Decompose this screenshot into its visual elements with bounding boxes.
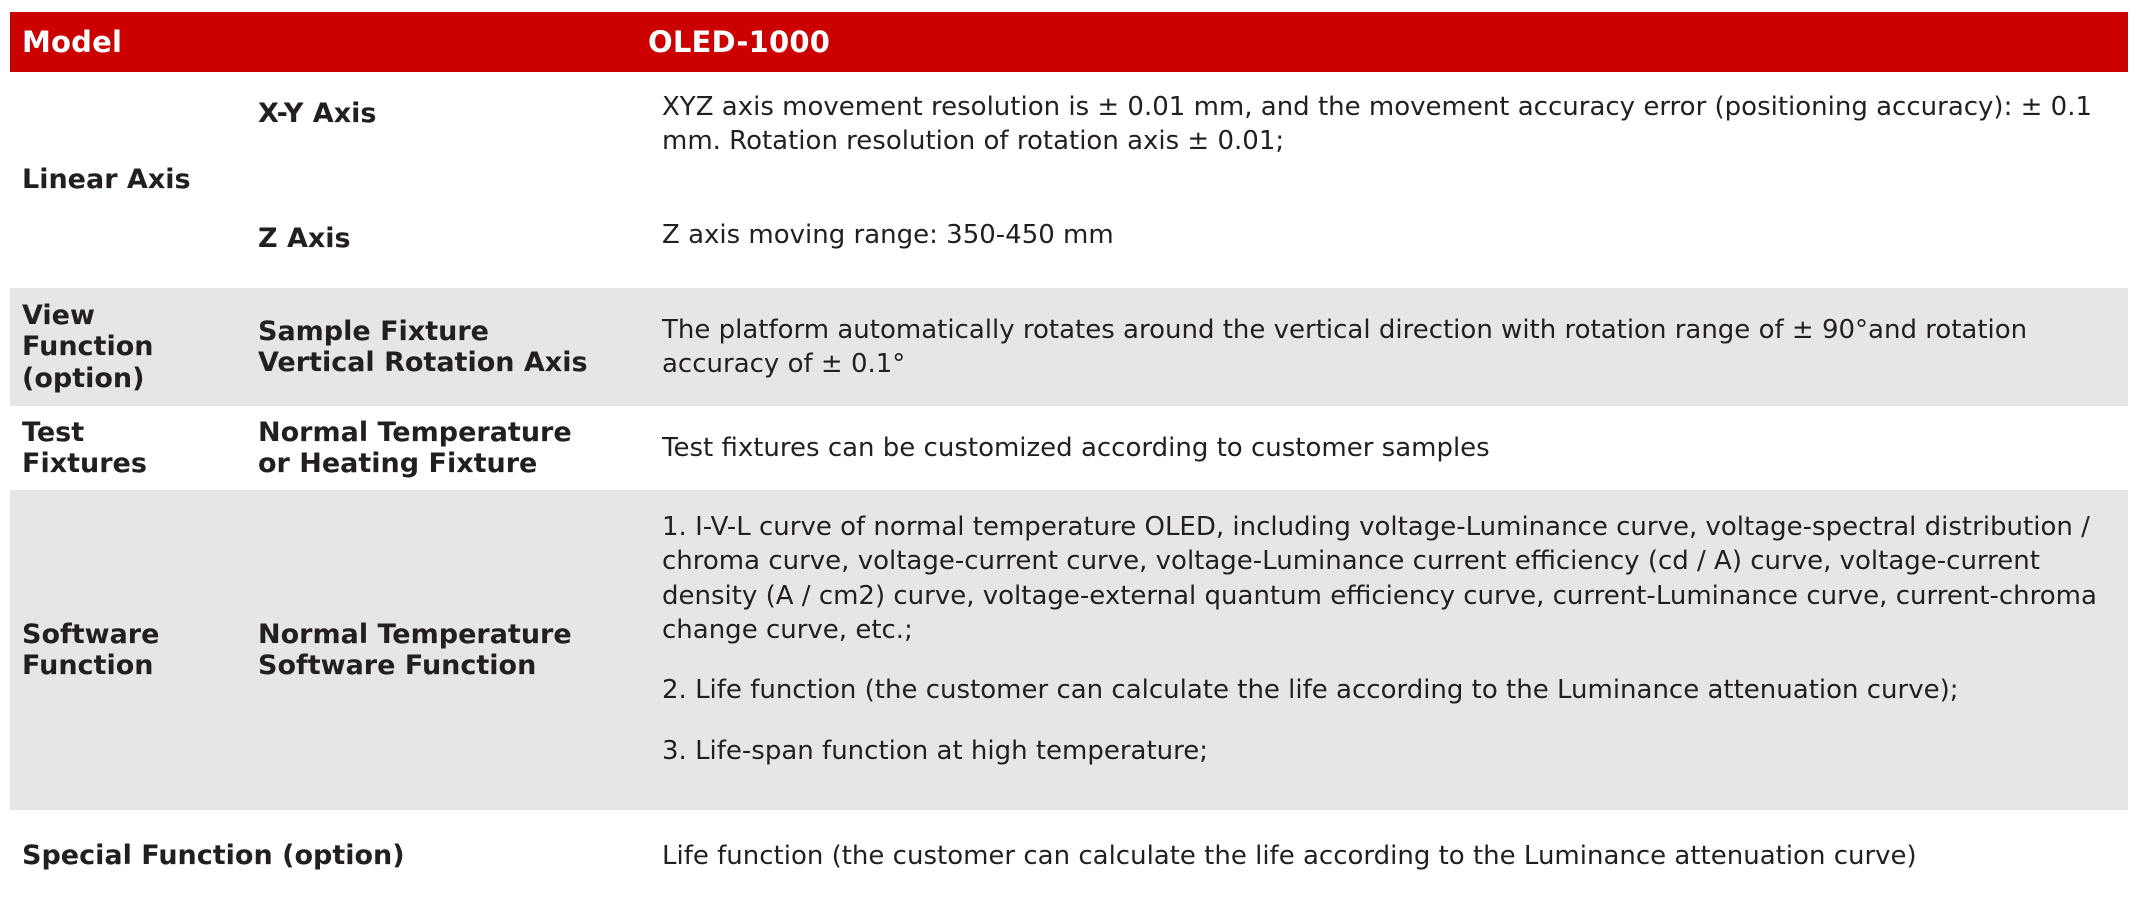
row-description: Life function (the customer can calculat…	[650, 810, 2128, 902]
group-label-line1: View	[22, 300, 248, 331]
group-label: Special Function (option)	[22, 840, 650, 871]
row-description: The platform automatically rotates aroun…	[650, 288, 2128, 406]
table-row: Software Function Normal Temperature Sof…	[10, 490, 2128, 810]
group-label-line2: Function	[22, 650, 248, 681]
sub-label-line2: Vertical Rotation Axis	[258, 347, 650, 378]
sub-label-line1: Sample Fixture	[258, 316, 650, 347]
group-label-line1: Test	[22, 417, 248, 448]
row-group-view-function: View Function (option)	[10, 288, 248, 406]
group-label-line1: Software	[22, 619, 248, 650]
header-model-label: Model	[10, 25, 648, 59]
description-view-function: The platform automatically rotates aroun…	[662, 313, 2114, 382]
description-test-fixtures: Test fixtures can be customized accordin…	[662, 431, 2114, 465]
sub-label-line1: Normal Temperature	[258, 417, 650, 448]
group-label-line2: Fixtures	[22, 448, 248, 479]
row-group-special-function: Special Function (option)	[10, 810, 650, 902]
row-subcolumn: X-Y Axis Z Axis	[248, 72, 650, 288]
row-description: 1. I-V-L curve of normal temperature OLE…	[650, 490, 2128, 810]
description-special-function: Life function (the customer can calculat…	[662, 839, 2114, 873]
description-x-y-axis: XYZ axis movement resolution is ± 0.01 m…	[662, 90, 2114, 159]
group-label-line2: Function	[22, 331, 248, 362]
table-row: View Function (option) Sample Fixture Ve…	[10, 288, 2128, 406]
sub-label-line1: Normal Temperature	[258, 619, 650, 650]
description-software-item-2: 2. Life function (the customer can calcu…	[662, 673, 2114, 707]
table-row: Special Function (option) Life function …	[10, 810, 2128, 902]
specification-table: Model OLED-1000 Linear Axis X-Y Axis Z A…	[0, 0, 2140, 902]
sub-label-x-y-axis: X-Y Axis	[258, 98, 650, 129]
group-label-line3: (option)	[22, 363, 248, 394]
table-body: Linear Axis X-Y Axis Z Axis XYZ axis mov…	[10, 72, 2128, 902]
sub-label-line2: or Heating Fixture	[258, 448, 650, 479]
table-header-row: Model OLED-1000	[10, 12, 2128, 72]
header-model-value: OLED-1000	[648, 25, 830, 59]
row-group-software-function: Software Function	[10, 490, 248, 810]
description-software-item-3: 3. Life-span function at high temperatur…	[662, 734, 2114, 768]
description-software-item-1: 1. I-V-L curve of normal temperature OLE…	[662, 510, 2114, 647]
row-subcolumn: Normal Temperature Software Function	[248, 490, 650, 810]
table-row: Test Fixtures Normal Temperature or Heat…	[10, 406, 2128, 490]
sub-label-z-axis: Z Axis	[258, 223, 650, 254]
sub-label-line2: Software Function	[258, 650, 650, 681]
description-z-axis: Z axis moving range: 350-450 mm	[662, 218, 2114, 252]
table-row: Linear Axis X-Y Axis Z Axis XYZ axis mov…	[10, 72, 2128, 288]
row-description: Test fixtures can be customized accordin…	[650, 406, 2128, 490]
row-subcolumn: Normal Temperature or Heating Fixture	[248, 406, 650, 490]
row-group-test-fixtures: Test Fixtures	[10, 406, 248, 490]
group-label: Linear Axis	[22, 164, 248, 195]
row-description: XYZ axis movement resolution is ± 0.01 m…	[650, 72, 2128, 288]
row-group-linear-axis: Linear Axis	[10, 72, 248, 288]
row-subcolumn: Sample Fixture Vertical Rotation Axis	[248, 288, 650, 406]
